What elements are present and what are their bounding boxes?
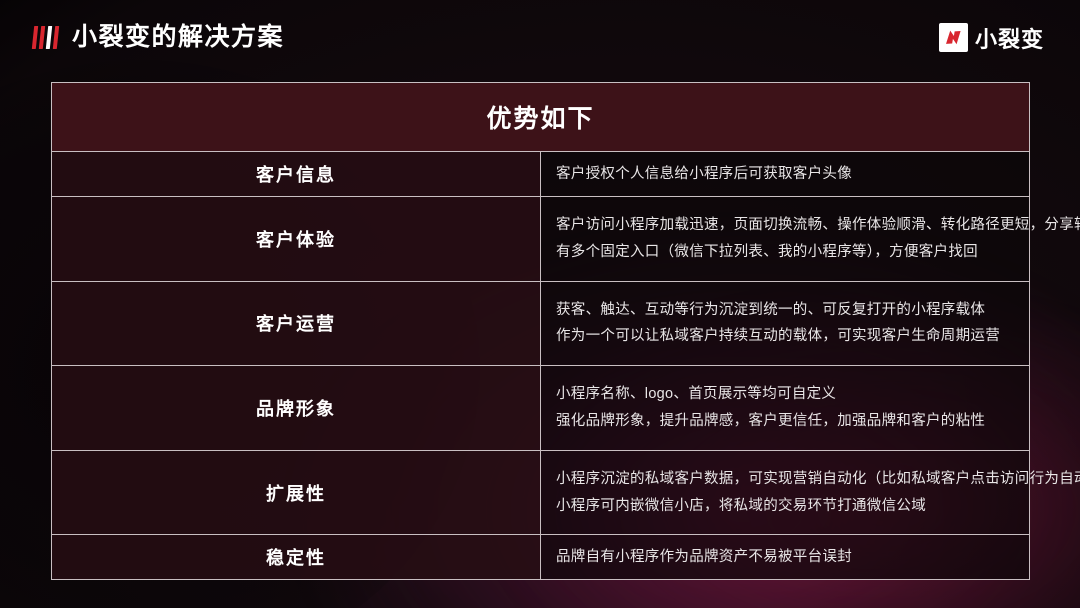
table-row: 客户运营 获客、触达、互动等行为沉淀到统一的、可反复打开的小程序载体 作为一个可…: [52, 281, 1029, 366]
desc-line: 强化品牌形象，提升品牌感，客户更信任，加强品牌和客户的粘性: [556, 408, 1013, 435]
table-row: 品牌形象 小程序名称、logo、首页展示等均可自定义 强化品牌形象，提升品牌感，…: [52, 366, 1029, 451]
table-row: 客户信息 客户授权个人信息给小程序后可获取客户头像: [52, 152, 1029, 197]
row-desc-brand-image: 小程序名称、logo、首页展示等均可自定义 强化品牌形象，提升品牌感，客户更信任…: [541, 366, 1030, 451]
row-label-extensibility: 扩展性: [52, 450, 541, 535]
slide-root: 小裂变的解决方案 小裂变 优势如下 客户信息 客户授权个人信: [0, 0, 1080, 608]
desc-line: 客户访问小程序加载迅速，页面切换流畅、操作体验顺滑、转化路径更短，分享转化效果更…: [556, 212, 1013, 239]
desc-line: 小程序名称、logo、首页展示等均可自定义: [556, 381, 1013, 408]
row-label-stability: 稳定性: [52, 535, 541, 579]
table-row: 扩展性 小程序沉淀的私域客户数据，可实现营销自动化（比如私域客户点击访问行为自动…: [52, 450, 1029, 535]
table-row: 客户体验 客户访问小程序加载迅速，页面切换流畅、操作体验顺滑、转化路径更短，分享…: [52, 196, 1029, 281]
brand-name: 小裂变: [975, 22, 1044, 54]
table-header-row: 优势如下: [52, 83, 1029, 152]
desc-line: 获客、触达、互动等行为沉淀到统一的、可反复打开的小程序载体: [556, 297, 1013, 324]
row-label-customer-experience: 客户体验: [52, 196, 541, 281]
brand-logo: 小裂变: [939, 22, 1044, 54]
desc-line: 小程序沉淀的私域客户数据，可实现营销自动化（比如私域客户点击访问行为自动触发活动…: [556, 466, 1013, 493]
bars-icon: [33, 26, 61, 49]
desc-line: 客户授权个人信息给小程序后可获取客户头像: [556, 161, 1013, 188]
advantages-table: 优势如下 客户信息 客户授权个人信息给小程序后可获取客户头像 客户体验 客户访问…: [52, 83, 1029, 579]
row-desc-customer-experience: 客户访问小程序加载迅速，页面切换流畅、操作体验顺滑、转化路径更短，分享转化效果更…: [541, 196, 1030, 281]
row-label-customer-operations: 客户运营: [52, 281, 541, 366]
row-label-customer-info: 客户信息: [52, 152, 541, 197]
row-label-brand-image: 品牌形象: [52, 366, 541, 451]
desc-line: 作为一个可以让私域客户持续互动的载体，可实现客户生命周期运营: [556, 323, 1013, 350]
desc-line: 小程序可内嵌微信小店，将私域的交易环节打通微信公域: [556, 493, 1013, 520]
row-desc-customer-info: 客户授权个人信息给小程序后可获取客户头像: [541, 152, 1030, 197]
desc-line: 有多个固定入口（微信下拉列表、我的小程序等），方便客户找回: [556, 239, 1013, 266]
advantages-table-container: 优势如下 客户信息 客户授权个人信息给小程序后可获取客户头像 客户体验 客户访问…: [51, 82, 1030, 580]
table-row: 稳定性 品牌自有小程序作为品牌资产不易被平台误封: [52, 535, 1029, 579]
lightning-mark-icon: [939, 23, 968, 52]
table-body: 客户信息 客户授权个人信息给小程序后可获取客户头像 客户体验 客户访问小程序加载…: [52, 152, 1029, 580]
page-title: 小裂变的解决方案: [72, 25, 284, 50]
slide-header: 小裂变的解决方案 小裂变: [0, 0, 1080, 75]
row-desc-extensibility: 小程序沉淀的私域客户数据，可实现营销自动化（比如私域客户点击访问行为自动触发活动…: [541, 450, 1030, 535]
header-left-group: 小裂变的解决方案: [33, 25, 284, 50]
row-desc-stability: 品牌自有小程序作为品牌资产不易被平台误封: [541, 535, 1030, 579]
table-title: 优势如下: [52, 83, 1029, 152]
row-desc-customer-operations: 获客、触达、互动等行为沉淀到统一的、可反复打开的小程序载体 作为一个可以让私域客…: [541, 281, 1030, 366]
desc-line: 品牌自有小程序作为品牌资产不易被平台误封: [556, 544, 1013, 571]
